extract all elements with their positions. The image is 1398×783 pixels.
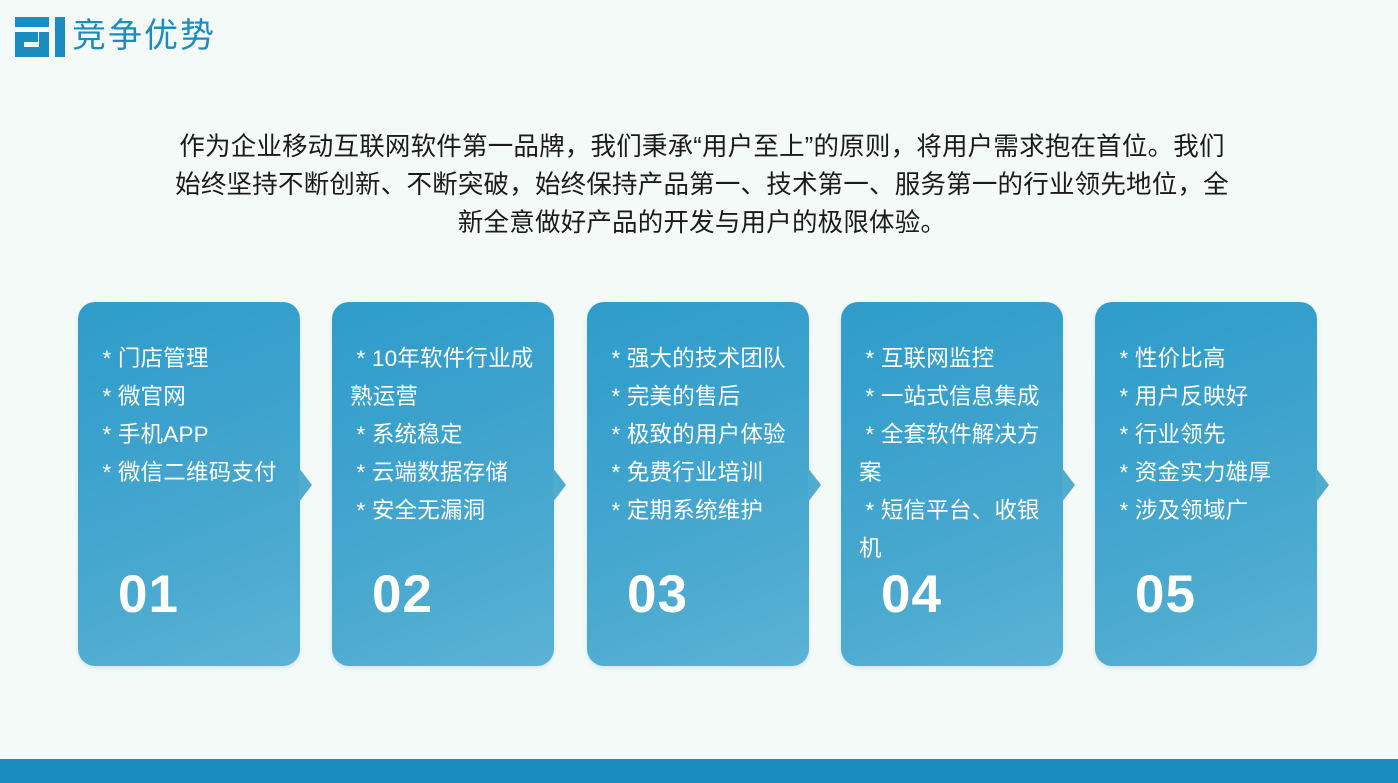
slide-root: 竞争优势 作为企业移动互联网软件第一品牌，我们秉承“用户至上”的原则，将用户需求… bbox=[0, 0, 1398, 783]
chevron-right-icon bbox=[553, 468, 566, 502]
intro-paragraph-block: 作为企业移动互联网软件第一品牌，我们秉承“用户至上”的原则，将用户需求抱在首位。… bbox=[168, 128, 1236, 242]
feature-card-03[interactable]: * 强大的技术团队 * 完美的售后 * 极致的用户体验 * 免费行业培训 * 定… bbox=[587, 302, 809, 666]
feature-card-number: 03 bbox=[627, 568, 688, 622]
footer-accent-bar bbox=[0, 759, 1398, 783]
feature-card-04[interactable]: * 互联网监控 * 一站式信息集成 * 全套软件解决方案 * 短信平台、收银机 … bbox=[841, 302, 1063, 666]
intro-paragraph-text: 作为企业移动互联网软件第一品牌，我们秉承“用户至上”的原则，将用户需求抱在首位。… bbox=[168, 128, 1236, 242]
51-logo-icon bbox=[14, 14, 66, 60]
feature-card-text: * 门店管理 * 微官网 * 手机APP * 微信二维码支付 bbox=[96, 340, 286, 492]
feature-card-text: * 互联网监控 * 一站式信息集成 * 全套软件解决方案 * 短信平台、收银机 bbox=[859, 340, 1049, 568]
feature-card-02[interactable]: * 10年软件行业成熟运营 * 系统稳定 * 云端数据存储 * 安全无漏洞 02 bbox=[332, 302, 554, 666]
feature-card-01[interactable]: * 门店管理 * 微官网 * 手机APP * 微信二维码支付 01 bbox=[78, 302, 300, 666]
feature-card-text: * 性价比高 * 用户反映好 * 行业领先 * 资金实力雄厚 * 涉及领域广 bbox=[1113, 340, 1303, 530]
slide-header: 竞争优势 bbox=[0, 0, 1398, 82]
feature-card-number: 05 bbox=[1135, 568, 1196, 622]
chevron-right-icon bbox=[1316, 468, 1329, 502]
feature-card-number: 02 bbox=[372, 568, 433, 622]
chevron-right-icon bbox=[1062, 468, 1075, 502]
chevron-right-icon bbox=[299, 468, 312, 502]
feature-card-number: 04 bbox=[881, 568, 942, 622]
feature-card-text: * 10年软件行业成熟运营 * 系统稳定 * 云端数据存储 * 安全无漏洞 bbox=[350, 340, 540, 530]
feature-card-text: * 强大的技术团队 * 完美的售后 * 极致的用户体验 * 免费行业培训 * 定… bbox=[605, 340, 795, 530]
feature-card-05[interactable]: * 性价比高 * 用户反映好 * 行业领先 * 资金实力雄厚 * 涉及领域广 0… bbox=[1095, 302, 1317, 666]
feature-card-number: 01 bbox=[118, 568, 179, 622]
chevron-right-icon bbox=[808, 468, 821, 502]
page-title: 竞争优势 bbox=[72, 13, 216, 59]
feature-cards-row: * 门店管理 * 微官网 * 手机APP * 微信二维码支付 01 * 10年软… bbox=[0, 302, 1398, 668]
